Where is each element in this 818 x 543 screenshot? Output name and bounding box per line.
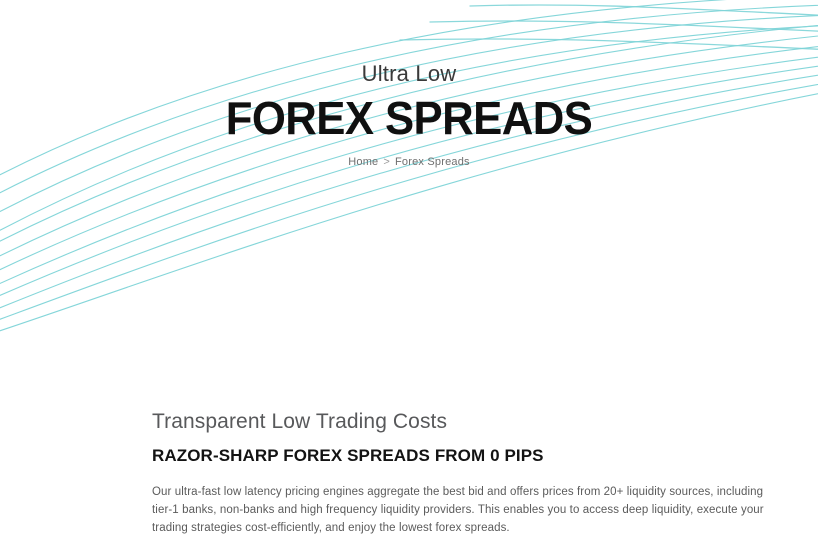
breadcrumb-item-current: Forex Spreads: [395, 156, 470, 168]
breadcrumb-item-home[interactable]: Home: [348, 156, 378, 168]
intro-section: Transparent Low Trading Costs RAZOR-SHAR…: [152, 408, 774, 537]
hero-text-block: Ultra Low FOREX SPREADS Home>Forex Sprea…: [0, 0, 818, 170]
breadcrumb: Home>Forex Spreads: [0, 144, 818, 170]
breadcrumb-separator-icon: >: [378, 156, 395, 168]
hero-banner: Ultra Low FOREX SPREADS Home>Forex Sprea…: [0, 0, 818, 360]
section-body-text: Our ultra-fast low latency pricing engin…: [152, 467, 772, 537]
section-eyebrow: Transparent Low Trading Costs: [152, 408, 774, 436]
section-title: RAZOR-SHARP FOREX SPREADS FROM 0 PIPS: [152, 436, 774, 467]
page-title: FOREX SPREADS: [20, 88, 797, 144]
hero-eyebrow: Ultra Low: [0, 0, 818, 88]
page-root: Ultra Low FOREX SPREADS Home>Forex Sprea…: [0, 0, 818, 543]
